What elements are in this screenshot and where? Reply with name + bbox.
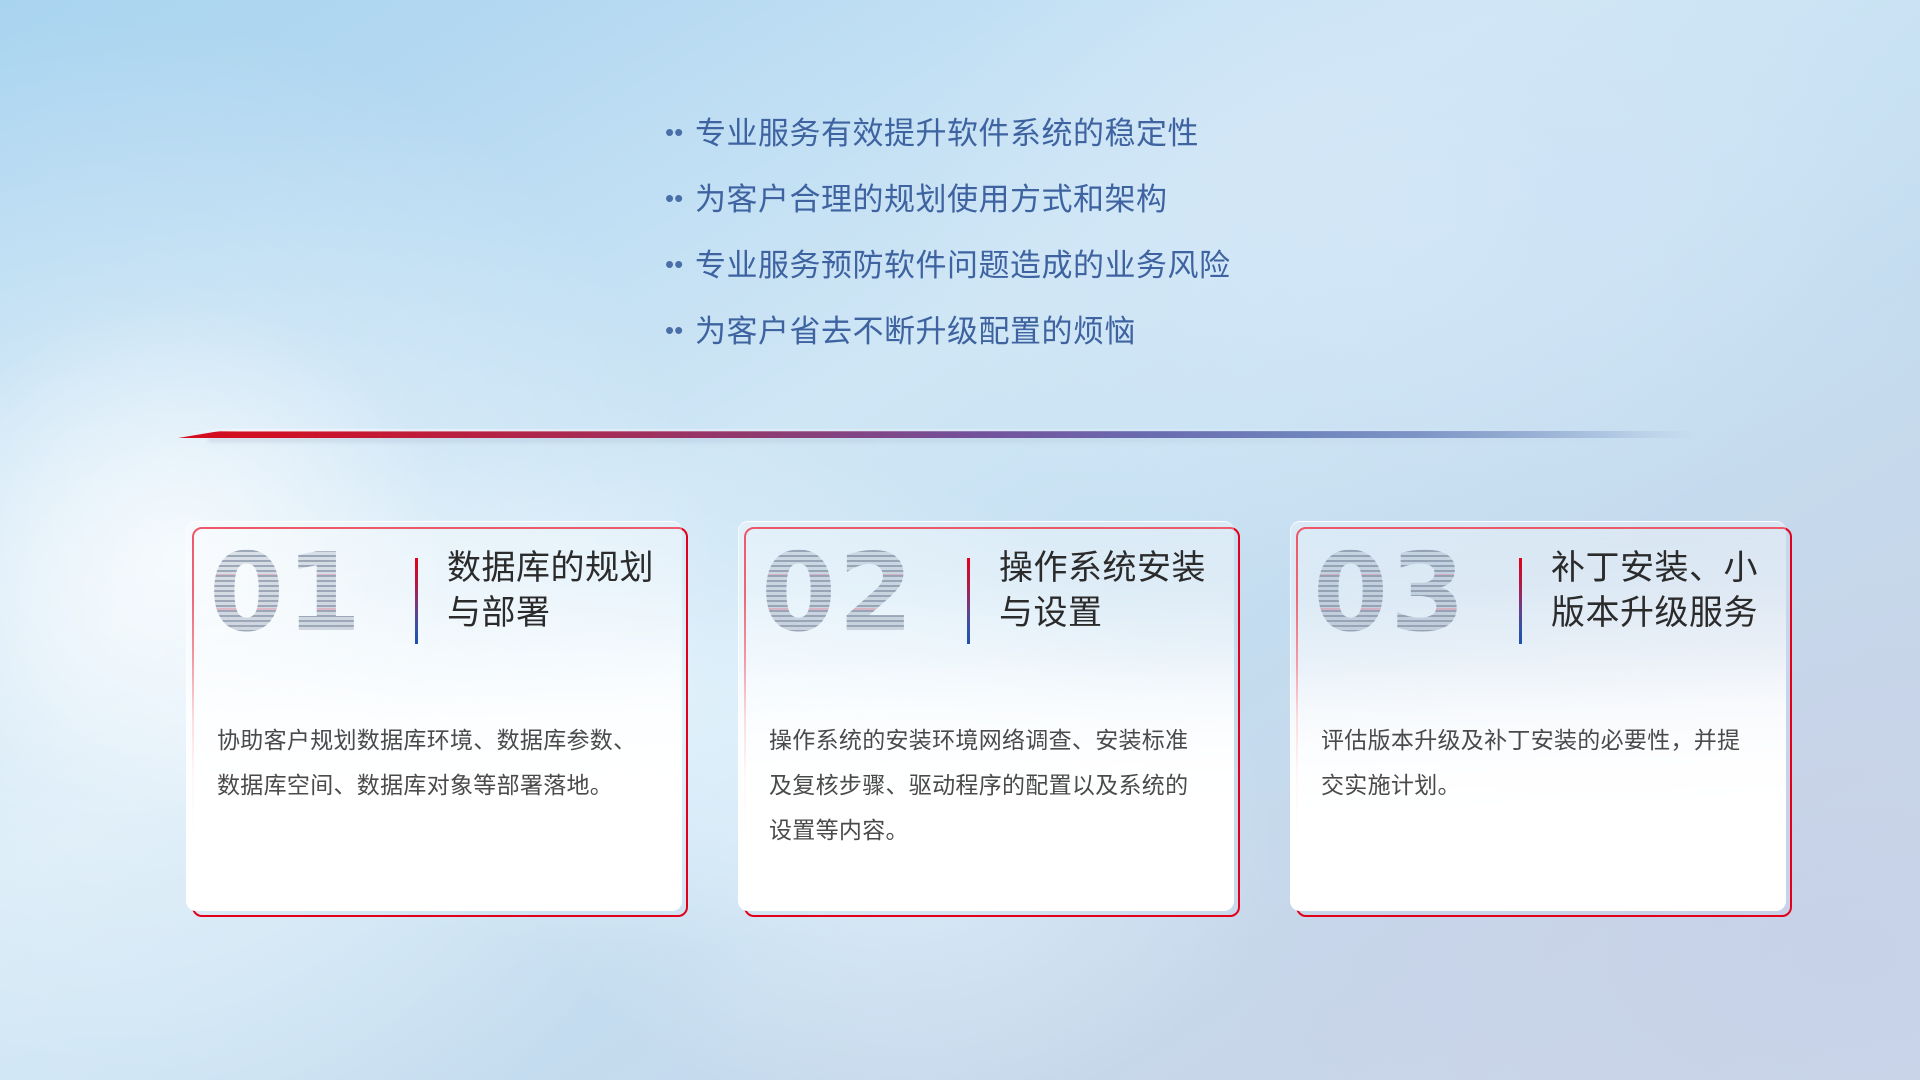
- card-header: 02 操作系统安装与设置: [739, 522, 1234, 678]
- card-title: 操作系统安装与设置: [999, 546, 1213, 636]
- card-description: 协助客户规划数据库环境、数据库参数、数据库空间、数据库对象等部署落地。: [217, 718, 651, 808]
- divider-highlight: [178, 429, 1698, 432]
- card-number: 02: [761, 540, 915, 648]
- card-title: 数据库的规划与部署: [447, 546, 661, 636]
- card-divider-rule: [415, 558, 418, 644]
- card-title: 补丁安装、小版本升级服务: [1551, 546, 1765, 636]
- card-header: 01 数据库的规划与部署: [187, 522, 682, 678]
- list-item: • 为客户省去不断升级配置的烦恼: [665, 306, 1545, 372]
- service-card-group: 01 数据库的规划与部署 协助客户规划数据库环境、数据库参数、数据库空间、数据库…: [186, 521, 1786, 911]
- divider-bar: [178, 431, 1698, 438]
- card-header: 03 补丁安装、小版本升级服务: [1291, 522, 1786, 678]
- bullet-text: 专业服务预防软件问题造成的业务风险: [695, 240, 1231, 285]
- bullet-text: 专业服务有效提升软件系统的稳定性: [695, 108, 1199, 153]
- bullet-text: 为客户合理的规划使用方式和架构: [695, 174, 1168, 219]
- card-divider-rule: [967, 558, 970, 644]
- card-description: 评估版本升级及补丁安装的必要性，并提交实施计划。: [1321, 718, 1755, 808]
- bullet-text: 为客户省去不断升级配置的烦恼: [695, 306, 1136, 351]
- card-divider-rule: [1519, 558, 1522, 644]
- card-description: 操作系统的安装环境网络调查、安装标准及复核步骤、驱动程序的配置以及系统的设置等内…: [769, 718, 1203, 853]
- slide-canvas: • 专业服务有效提升软件系统的稳定性 • 为客户合理的规划使用方式和架构 • 专…: [0, 0, 1920, 1080]
- card-number: 01: [209, 540, 363, 648]
- service-card[interactable]: 03 补丁安装、小版本升级服务 评估版本升级及补丁安装的必要性，并提交实施计划。: [1290, 521, 1786, 911]
- bullet-dot-icon: •: [665, 185, 695, 211]
- card-surface: 01 数据库的规划与部署 协助客户规划数据库环境、数据库参数、数据库空间、数据库…: [186, 521, 682, 911]
- bullet-dot-icon: •: [665, 317, 695, 343]
- benefit-bullet-list: • 专业服务有效提升软件系统的稳定性 • 为客户合理的规划使用方式和架构 • 专…: [665, 108, 1545, 372]
- list-item: • 专业服务有效提升软件系统的稳定性: [665, 108, 1545, 174]
- service-card[interactable]: 02 操作系统安装与设置 操作系统的安装环境网络调查、安装标准及复核步骤、驱动程…: [738, 521, 1234, 911]
- card-surface: 02 操作系统安装与设置 操作系统的安装环境网络调查、安装标准及复核步骤、驱动程…: [738, 521, 1234, 911]
- divider-shadow: [208, 438, 1652, 442]
- service-card[interactable]: 01 数据库的规划与部署 协助客户规划数据库环境、数据库参数、数据库空间、数据库…: [186, 521, 682, 911]
- list-item: • 专业服务预防软件问题造成的业务风险: [665, 240, 1545, 306]
- card-number: 03: [1313, 540, 1467, 648]
- section-divider: [178, 425, 1698, 443]
- list-item: • 为客户合理的规划使用方式和架构: [665, 174, 1545, 240]
- bullet-dot-icon: •: [665, 119, 695, 145]
- card-surface: 03 补丁安装、小版本升级服务 评估版本升级及补丁安装的必要性，并提交实施计划。: [1290, 521, 1786, 911]
- bullet-dot-icon: •: [665, 251, 695, 277]
